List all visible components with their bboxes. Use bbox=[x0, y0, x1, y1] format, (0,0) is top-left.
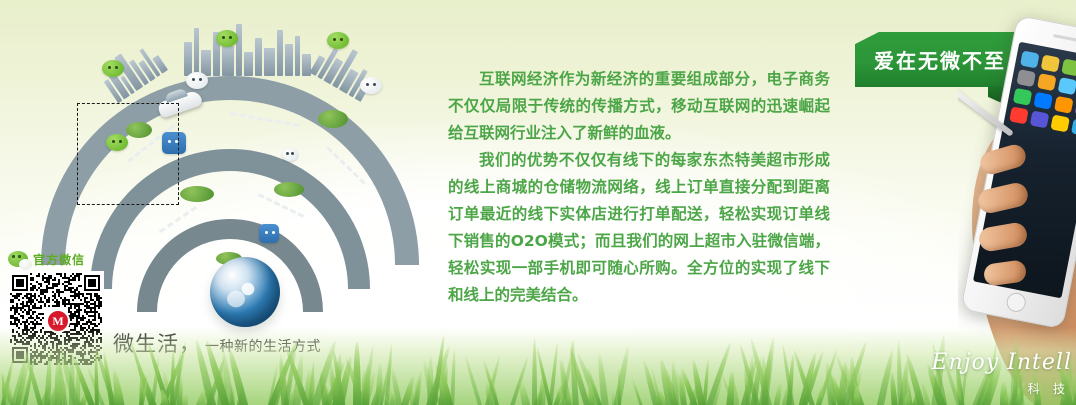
home-button[interactable] bbox=[1005, 291, 1027, 313]
grass-blade bbox=[631, 377, 645, 405]
wechat-bubble-white bbox=[360, 77, 382, 94]
globe-icon bbox=[210, 257, 280, 327]
footer-script-text: Enjoy Intell bbox=[931, 350, 1072, 375]
banner-stage: 互联网经济作为新经济的重要组成部分，电子商务不仅仅局限于传统的传播方式，移动互联… bbox=[0, 0, 1076, 405]
skyline-center bbox=[184, 24, 311, 76]
grass-blade bbox=[613, 346, 632, 405]
grass-blade bbox=[113, 379, 119, 405]
grass-blade bbox=[463, 355, 482, 405]
earpiece bbox=[1053, 34, 1076, 42]
wechat-bubble-green bbox=[102, 60, 124, 77]
copy-paragraph-1: 互联网经济作为新经济的重要组成部分，电子商务不仅仅局限于传统的传播方式，移动互联… bbox=[448, 66, 830, 147]
copy-paragraph-2: 我们的优势不仅仅有线下的每家东杰特美超市形成的线上商城的仓储物流网络，线上订单直… bbox=[448, 147, 830, 309]
app-icon-grid bbox=[1009, 50, 1076, 136]
foliage bbox=[274, 182, 304, 197]
wechat-bubble-green bbox=[216, 30, 238, 47]
wechat-bubble-blue bbox=[259, 224, 279, 243]
wechat-bubble-white bbox=[282, 148, 298, 161]
wechat-label: 官方微信 bbox=[33, 251, 85, 268]
grass-blade bbox=[532, 338, 537, 405]
grass-blade bbox=[517, 381, 531, 405]
grass-blade bbox=[896, 340, 904, 405]
footer-chinese-text: 科 技 bbox=[1028, 380, 1070, 397]
wechat-bubble-green bbox=[327, 32, 349, 49]
foliage bbox=[180, 186, 214, 202]
wechat-bubble-white bbox=[186, 72, 208, 89]
foliage bbox=[318, 110, 348, 128]
grass-strip: Enjoy Intell 科 技 bbox=[0, 327, 1076, 405]
main-copy: 互联网经济作为新经济的重要组成部分，电子商务不仅仅局限于传统的传播方式，移动互联… bbox=[448, 66, 830, 309]
wechat-header: 官方微信 bbox=[8, 250, 108, 268]
dotted-selection-box[interactable] bbox=[77, 103, 179, 205]
wechat-icon bbox=[8, 251, 28, 267]
grass-blade bbox=[304, 368, 312, 405]
